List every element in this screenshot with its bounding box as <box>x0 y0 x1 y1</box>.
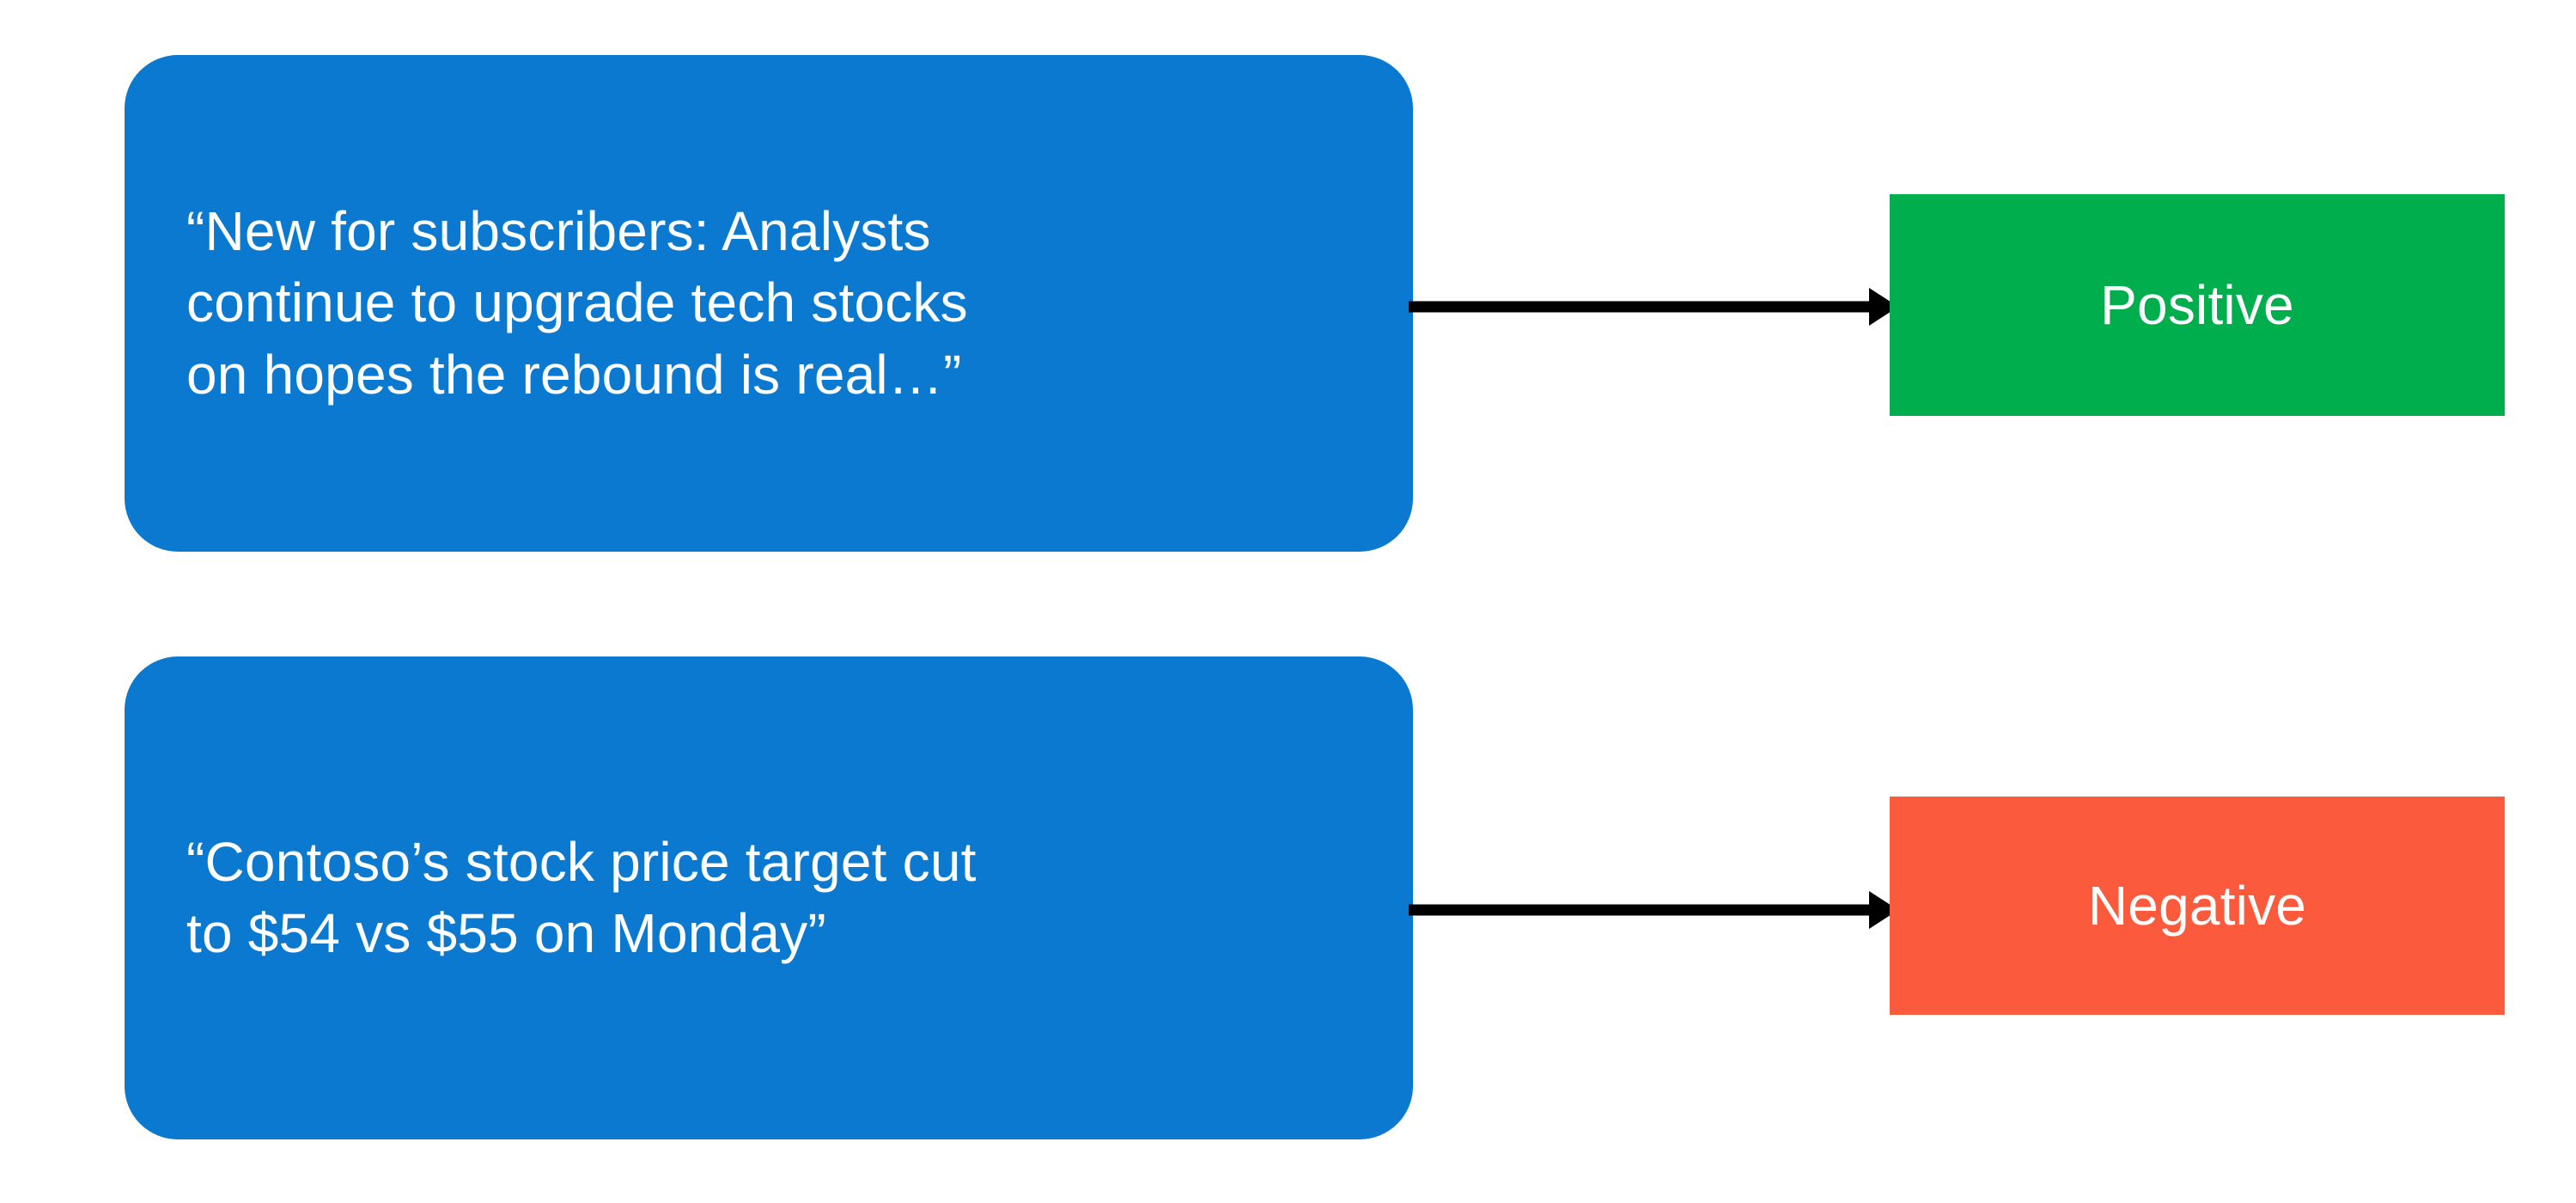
diagram-canvas: “New for subscribers: Analysts continue … <box>0 0 2576 1203</box>
arrow-quote1-to-positive <box>1409 277 1898 337</box>
quote-card-positive-example[interactable]: “New for subscribers: Analysts continue … <box>125 55 1413 552</box>
status-badge-negative-label: Negative <box>2088 873 2306 939</box>
status-badge-positive-label: Positive <box>2100 272 2294 339</box>
arrow-quote2-to-negative <box>1409 880 1898 940</box>
status-badge-positive[interactable]: Positive <box>1890 194 2505 416</box>
status-badge-negative[interactable]: Negative <box>1890 797 2505 1015</box>
quote-card-negative-example[interactable]: “Contoso’s stock price target cut to $54… <box>125 656 1413 1139</box>
quote-card-text: “Contoso’s stock price target cut to $54… <box>125 827 1016 969</box>
quote-card-text: “New for subscribers: Analysts continue … <box>125 196 1008 411</box>
